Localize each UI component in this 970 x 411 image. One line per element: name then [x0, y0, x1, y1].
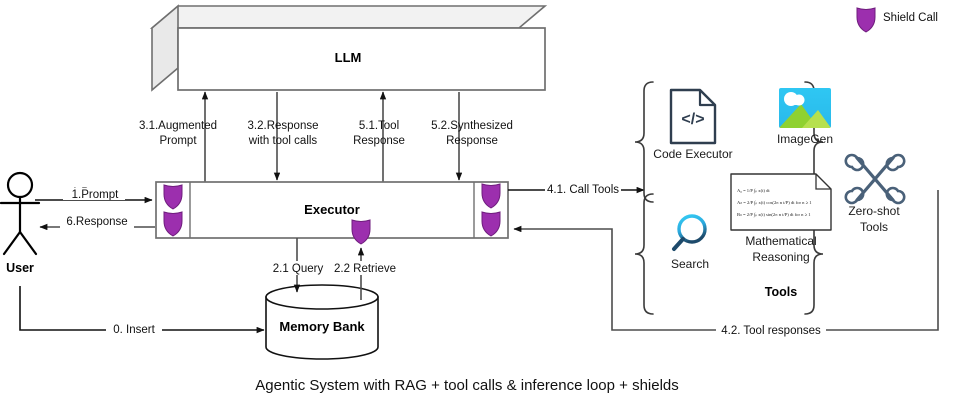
llm-executor-edges: 3.1.Augmented Prompt 3.2.Response with t…	[139, 92, 513, 182]
llm-front-face	[178, 28, 545, 90]
shield-icon-legend	[857, 8, 875, 32]
tool-code-executor[interactable]: </> Code Executor	[653, 90, 732, 161]
edge-3-2-label-line1: 3.2.Response	[248, 120, 319, 132]
edge-6-response-label: 6.Response	[66, 216, 127, 228]
user-left-leg	[4, 232, 20, 254]
tool-label-imagegen: ImageGen	[777, 132, 833, 146]
tool-label-math-line1: Mathematical	[745, 234, 816, 248]
edge-4-1-call-tools: 4.1. Call Tools	[508, 182, 644, 196]
tool-label-math-line2: Reasoning	[752, 250, 809, 264]
diagram-caption: Agentic System with RAG + tool calls & i…	[255, 377, 679, 394]
llm-top-face	[152, 6, 545, 28]
user-label: User	[6, 261, 34, 275]
legend-shield-call: Shield Call	[857, 8, 938, 32]
executor-label: Executor	[304, 202, 360, 217]
shield-icon-executor-memory[interactable]	[352, 220, 370, 244]
tool-label-search: Search	[671, 257, 709, 271]
user-executor-edges: 1.Prompt 1.Prompt 6.Response	[35, 187, 155, 228]
llm-node[interactable]: LLM	[152, 6, 545, 90]
edge-5-2-label-line1: 5.2.Synthesized	[431, 120, 513, 132]
edge-4-1-call-tools-label: 4.1. Call Tools	[547, 184, 619, 196]
edge-5-1-label-line1: 5.1.Tool	[359, 120, 399, 132]
llm-side-face	[152, 6, 178, 90]
tools-group-label: Tools	[765, 285, 797, 299]
code-glyph: </>	[681, 111, 704, 128]
agentic-system-diagram: LLM 3.1.Augmented Prompt 3.2.Response wi…	[0, 0, 970, 411]
tool-label-zeroshot-line2: Tools	[860, 220, 888, 234]
memory-bank-label: Memory Bank	[279, 319, 365, 334]
tool-label-zeroshot-line1: Zero-shot	[848, 204, 900, 218]
edge-3-1-label-line1: 3.1.Augmented	[139, 120, 217, 132]
edge-2-2-retrieve-label: 2.2 Retrieve	[334, 263, 396, 275]
tool-label-code-executor: Code Executor	[653, 147, 732, 161]
tool-search[interactable]: Search	[671, 216, 709, 271]
edge-5-2-label-line2: Response	[446, 135, 498, 147]
edge-0-insert: 0. Insert	[20, 286, 264, 336]
user-head	[8, 173, 32, 197]
user-node[interactable]: User	[1, 173, 39, 275]
llm-label: LLM	[335, 50, 362, 65]
crossed-wrenches-icon	[846, 155, 904, 203]
edge-0-insert-label: 0. Insert	[113, 324, 155, 336]
executor-node[interactable]: Executor	[156, 182, 508, 244]
edge-3-1-label-line2: Prompt	[159, 135, 197, 147]
edge-5-1-label-line2: Response	[353, 135, 405, 147]
edge-2-1-query-label: 2.1 Query	[273, 263, 324, 275]
edge-3-2-label-line2: with tool calls	[248, 135, 318, 147]
edge-1-prompt-label-top: 1.Prompt	[72, 189, 119, 201]
tool-zero-shot[interactable]: Zero-shot Tools	[846, 155, 904, 234]
edge-4-2-tool-responses-label: 4.2. Tool responses	[721, 325, 821, 337]
magnifier-icon-handle	[674, 239, 683, 249]
legend-label: Shield Call	[883, 12, 938, 24]
tool-imagegen[interactable]: ImageGen	[777, 88, 833, 146]
user-right-leg	[20, 232, 36, 254]
